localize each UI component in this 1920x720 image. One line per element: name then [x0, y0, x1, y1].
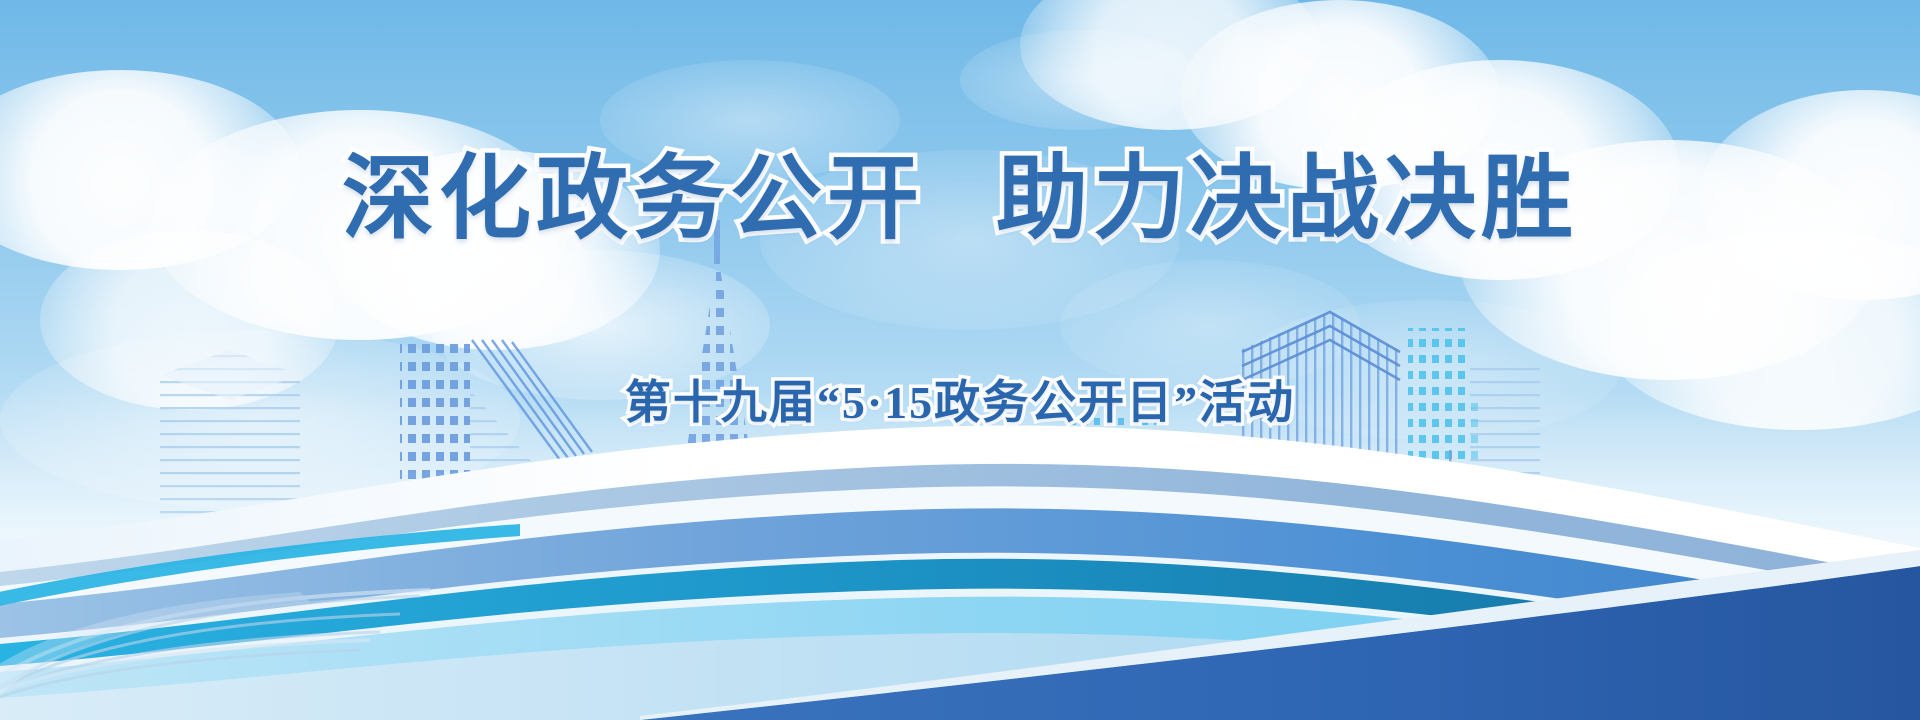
wave-ribbons [0, 390, 1920, 720]
wave-deep-blue-edge [640, 550, 1920, 720]
building-needle-tower [680, 220, 756, 720]
wave-light-blue-fill [0, 633, 1920, 720]
building-curved-right [1150, 607, 1262, 720]
wave-steel-band [0, 464, 1920, 720]
wave-white-sep-2 [0, 553, 1920, 720]
horizon-haze [0, 390, 1920, 720]
wave-white-sep-1 [0, 486, 1920, 720]
wave-white-sep-3 [0, 589, 1920, 720]
cloud-icon [1020, 0, 1320, 130]
building-dot-slab [782, 478, 874, 720]
cloud-icon [1060, 260, 1360, 390]
building-block-grid [912, 685, 1032, 720]
antenna-masts [1206, 450, 1492, 612]
building-slant-right [1240, 312, 1402, 720]
building-window-grids [1140, 500, 1217, 691]
headline-right: 助力决战决胜 [996, 148, 1578, 250]
building-dot-block-mid [700, 574, 788, 720]
building-dot-small-left [252, 568, 332, 720]
cloud-icon [960, 30, 1200, 130]
wave-left-spiral [0, 590, 430, 720]
building-cyan-round [1060, 410, 1180, 720]
banner-canvas: 深化政务公开助力决战决胜 第十九届“5·15政务公开日”活动 [0, 0, 1920, 720]
wave-teal-band [0, 559, 1920, 720]
wave-cyan-accent-left [0, 524, 520, 610]
page-title: 深化政务公开助力决战决胜 [0, 150, 1920, 249]
wave-medium-blue [0, 508, 1920, 720]
page-subtitle: 第十九届“5·15政务公开日”活动 [0, 378, 1920, 429]
building-faint-center [606, 454, 706, 720]
wave-cyan-band [0, 597, 1920, 720]
wave-deep-blue-swoosh [640, 566, 1920, 720]
building-line-left-fg [96, 560, 286, 720]
wave-white-crest [0, 426, 1920, 720]
building-fan-tower [895, 655, 1060, 720]
building-dot-far-right [1560, 540, 1640, 720]
headline-left: 深化政务公开 [342, 148, 924, 250]
